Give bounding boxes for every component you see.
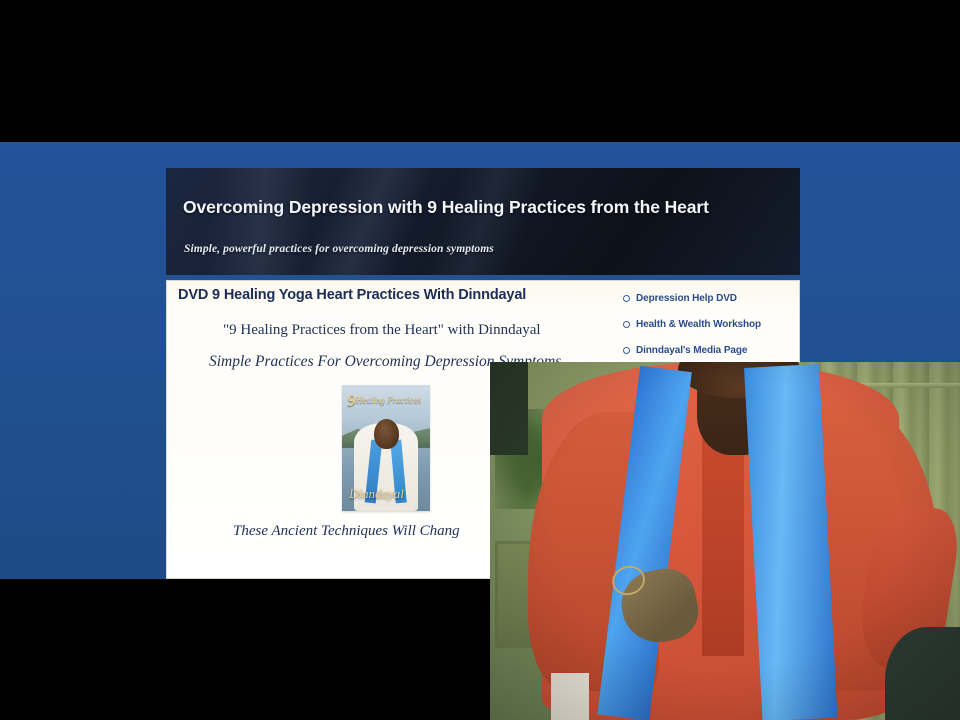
- dvd-cover-image[interactable]: 9Healing Practices Dinndayal: [342, 385, 430, 511]
- webcam-shirt-placket: [702, 434, 744, 656]
- site-header-banner: Overcoming Depression with 9 Healing Pra…: [166, 168, 800, 275]
- sidebar-link-label: Health & Wealth Workshop: [636, 319, 761, 330]
- dvd-cover-title-text: 9Healing Practices: [347, 391, 424, 411]
- bullet-icon: [623, 321, 630, 328]
- dvd-cover-title-number: 9: [347, 391, 356, 410]
- sidebar-link-dinndayal-media-page[interactable]: Dinndayal's Media Page: [623, 340, 791, 361]
- sidebar-link-label: Depression Help DVD: [636, 293, 737, 304]
- video-player-frame[interactable]: Overcoming Depression with 9 Healing Pra…: [0, 0, 960, 720]
- webcam-lower-garment: [551, 673, 589, 720]
- dvd-cover-title-words: Healing Practices: [356, 395, 421, 405]
- closing-line: These Ancient Techniques Will Chang: [233, 523, 460, 540]
- banner-title: Overcoming Depression with 9 Healing Pra…: [183, 197, 709, 218]
- banner-tagline: Simple, powerful practices for overcomin…: [184, 243, 494, 255]
- sidebar-link-health-wealth-workshop[interactable]: Health & Wealth Workshop: [623, 314, 791, 335]
- sidebar-link-depression-help-dvd[interactable]: Depression Help DVD: [623, 288, 791, 309]
- webcam-dark-panel: [490, 362, 528, 455]
- webcam-video-overlay[interactable]: [490, 362, 960, 720]
- post-title: DVD 9 Healing Yoga Heart Practices With …: [178, 287, 526, 303]
- dvd-cover-head: [374, 419, 399, 449]
- bullet-icon: [623, 347, 630, 354]
- sidebar-link-label: Dinndayal's Media Page: [636, 345, 747, 356]
- dvd-cover-name-text: Dinndayal: [349, 486, 425, 502]
- lead-line-primary: "9 Healing Practices from the Heart" wit…: [223, 322, 541, 339]
- bullet-icon: [623, 295, 630, 302]
